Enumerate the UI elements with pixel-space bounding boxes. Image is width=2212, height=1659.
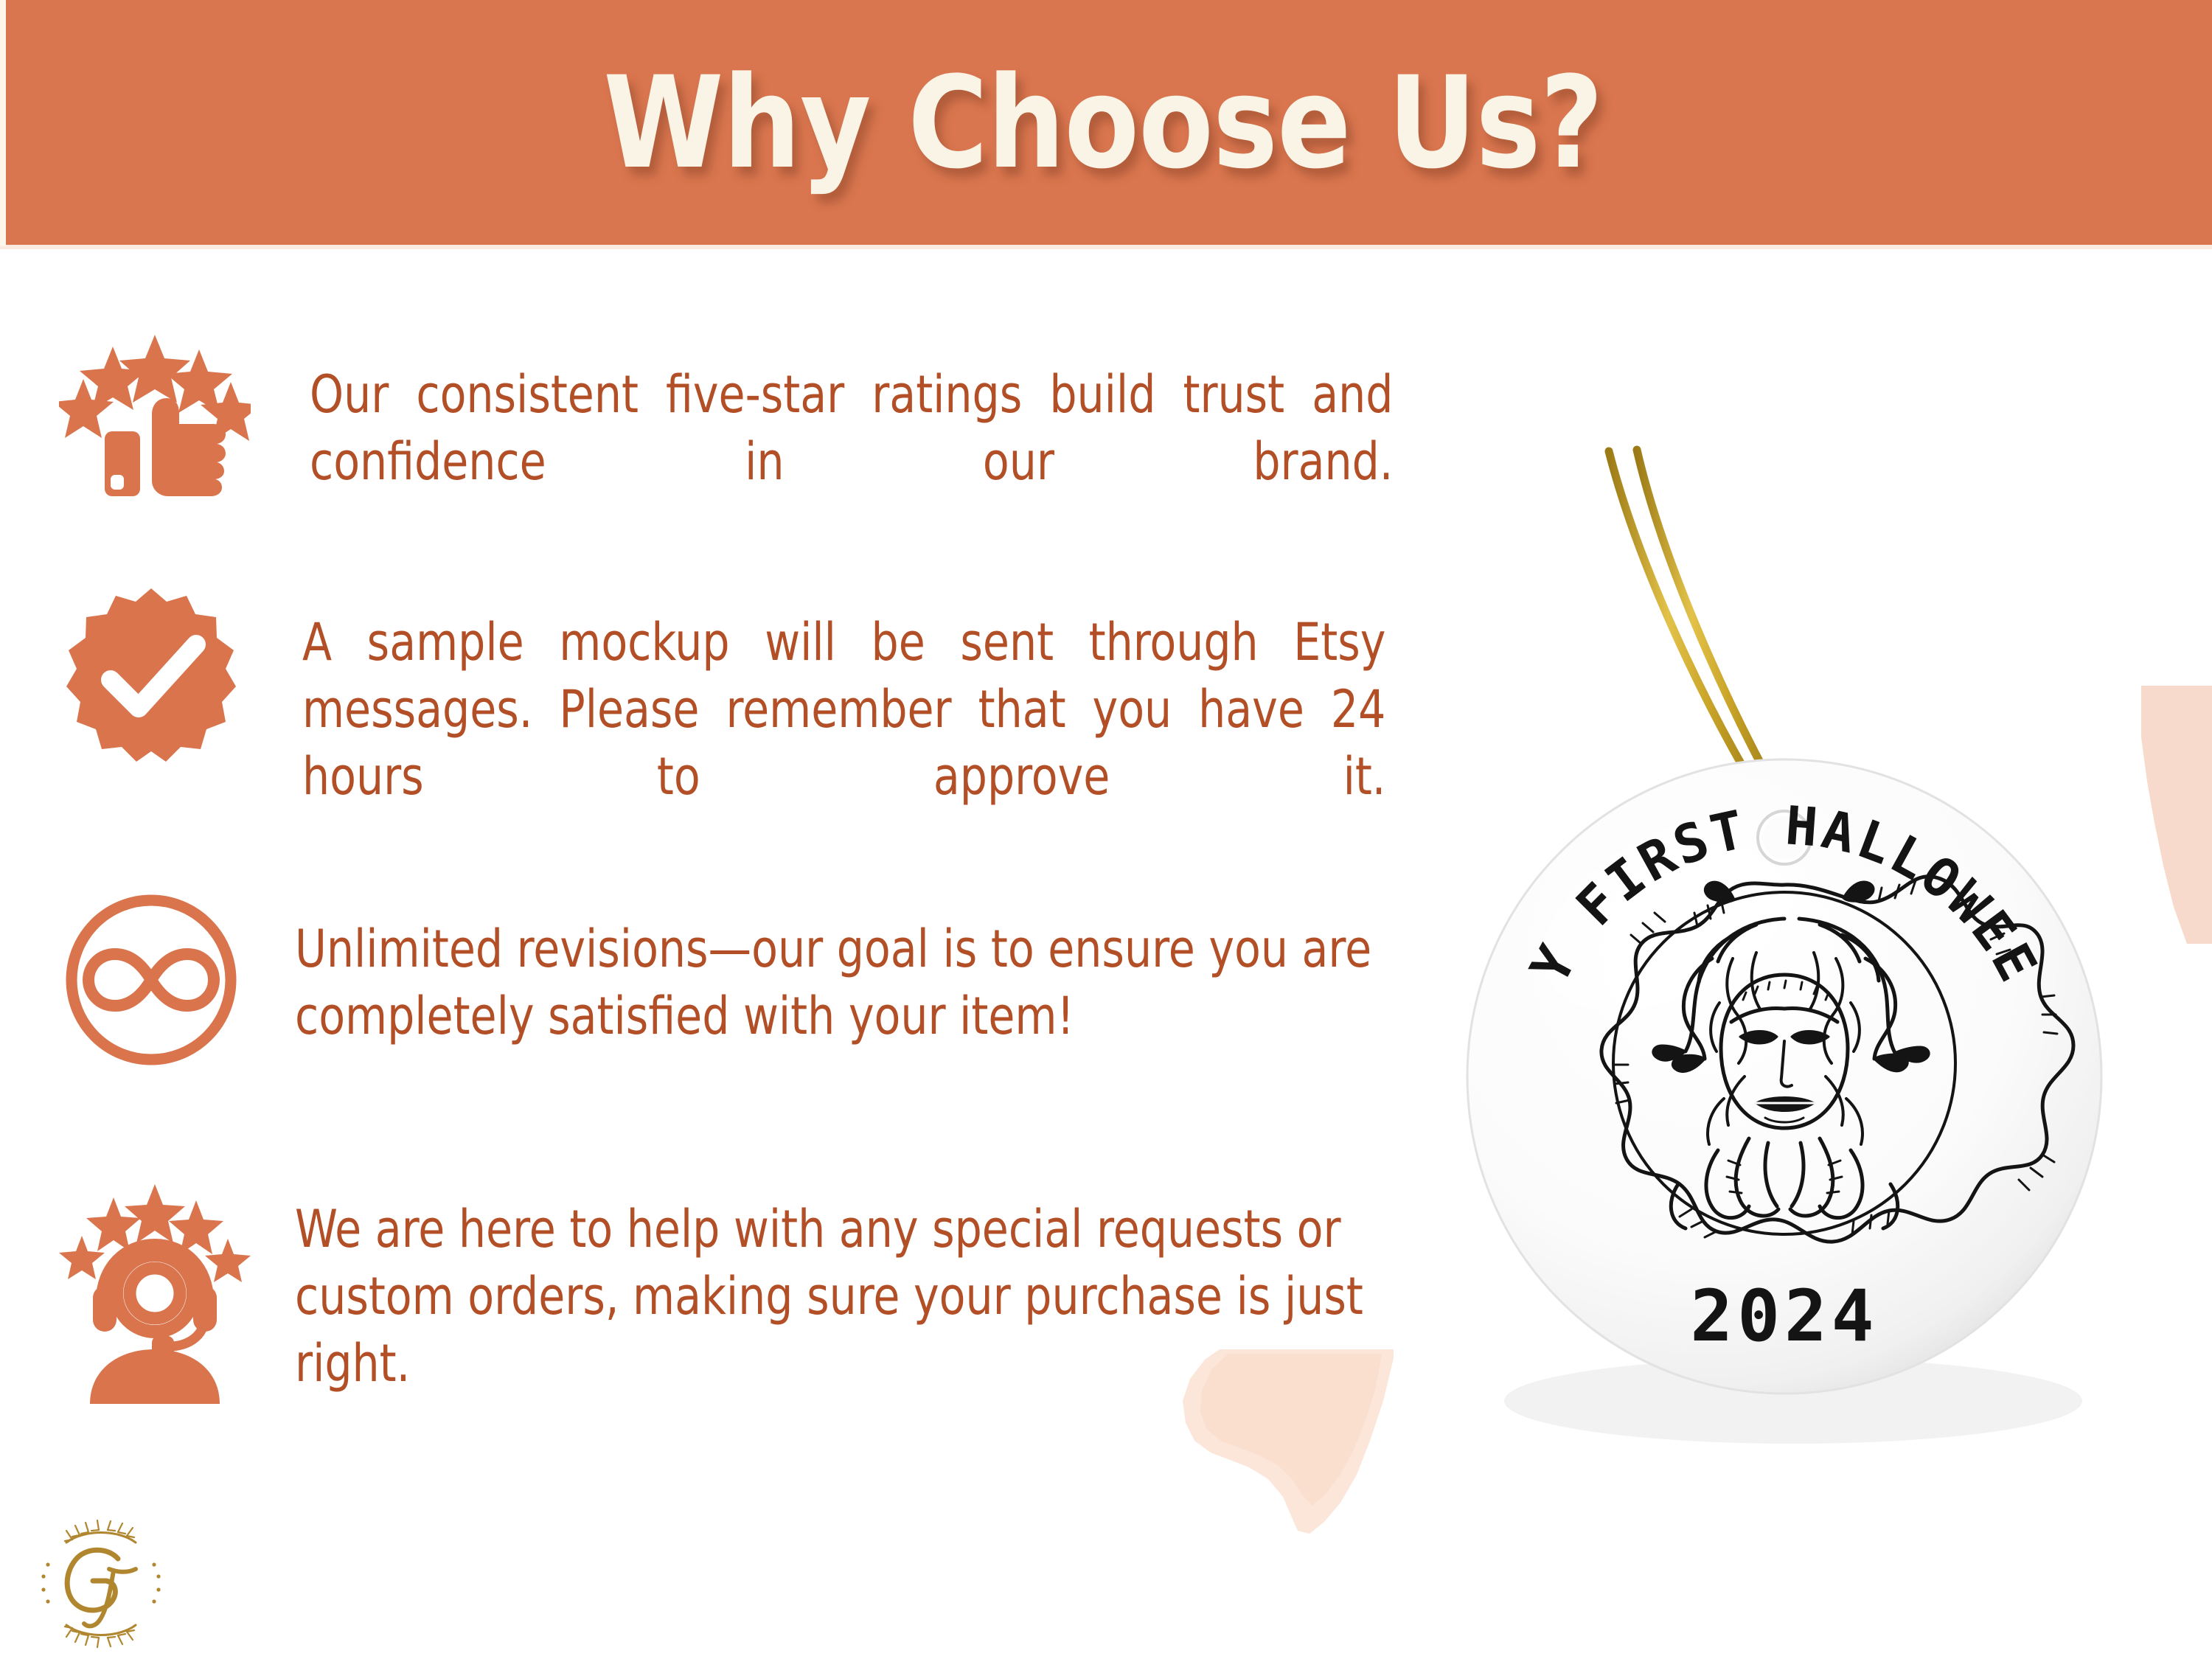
benefit-text-2: A sample mockup will be sent through Ets… bbox=[302, 609, 1385, 877]
ornament-graphic: MY FIRST HALLOWEEN 2024 bbox=[1416, 442, 2153, 1593]
support-agent-stars-icon bbox=[59, 1183, 251, 1404]
benefit-text-3: Unlimited revisions—our goal is to ensur… bbox=[295, 916, 1378, 1050]
left-edge-strip bbox=[0, 0, 6, 246]
verified-badge-check-icon bbox=[59, 585, 243, 770]
page-title: Why Choose Us? bbox=[154, 0, 2051, 245]
benefit-text-1: Our consistent five-star ratings build t… bbox=[310, 361, 1393, 563]
five-stars-thumbs-up-icon bbox=[59, 333, 251, 503]
product-image: MY FIRST HALLOWEEN 2024 bbox=[1416, 442, 2153, 1593]
ornament-year-text: 2024 bbox=[1690, 1275, 1878, 1357]
brand-logo-g-wreath bbox=[31, 1517, 171, 1650]
slide-canvas: Why Choose Us? bbox=[0, 0, 2212, 1659]
infinity-circle-icon bbox=[59, 888, 243, 1072]
benefit-text-4: We are here to help with any special req… bbox=[295, 1196, 1378, 1397]
